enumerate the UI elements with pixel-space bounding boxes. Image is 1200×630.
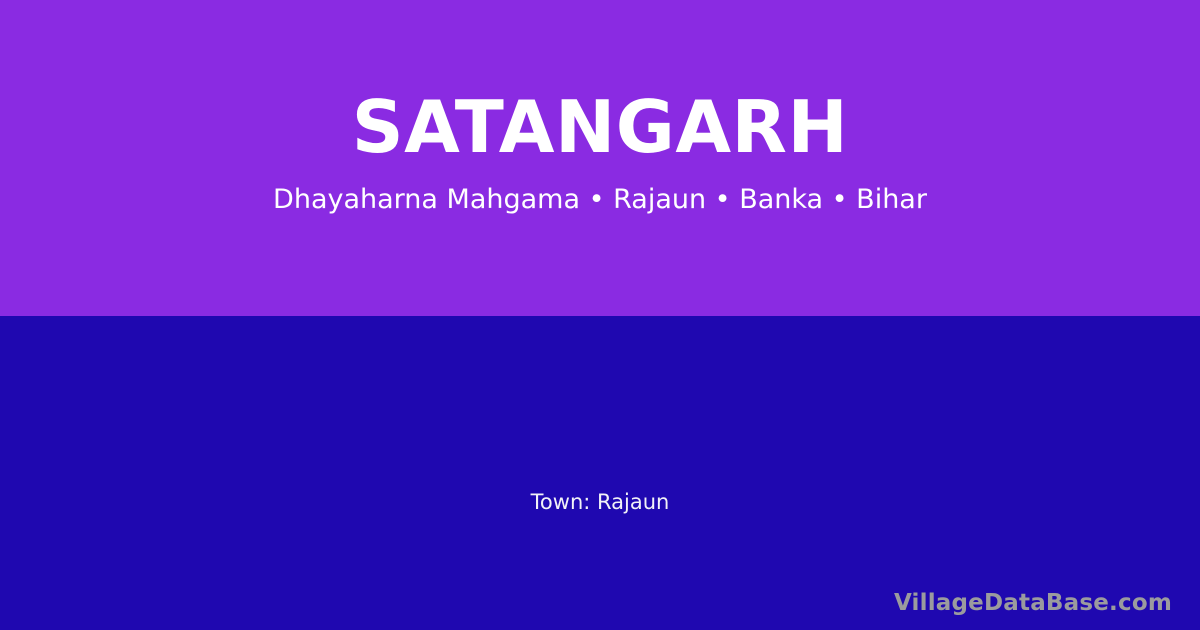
town-detail: Town: Rajaun [0,488,1200,516]
page-title: SATANGARH [0,84,1200,170]
site-watermark: VillageDataBase.com [894,588,1172,618]
hero-section: SATANGARH Dhayaharna Mahgama • Rajaun • … [0,0,1200,316]
breadcrumb: Dhayaharna Mahgama • Rajaun • Banka • Bi… [0,183,1200,217]
details-section: Town: Rajaun VillageDataBase.com [0,316,1200,630]
village-info-banner: SATANGARH Dhayaharna Mahgama • Rajaun • … [0,0,1200,630]
